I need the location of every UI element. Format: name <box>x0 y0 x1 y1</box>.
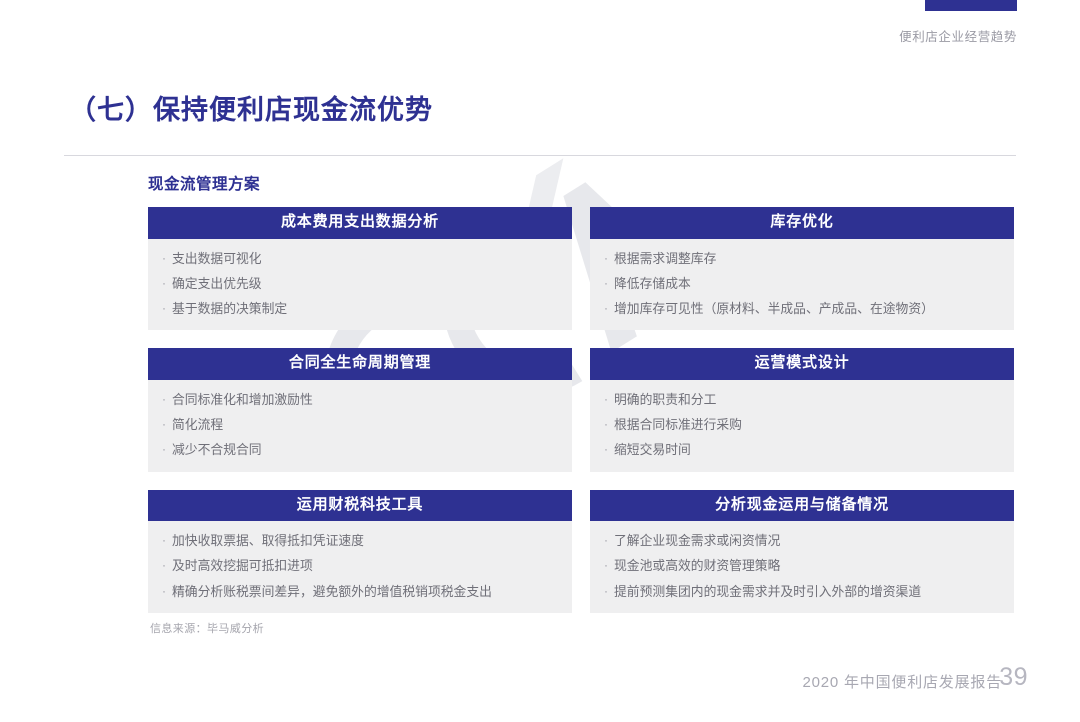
title-divider <box>64 155 1016 156</box>
footer-report-name: 2020 年中国便利店发展报告 <box>802 671 1002 692</box>
page-title: （七）保持便利店现金流优势 <box>69 88 433 127</box>
list-item: · 支出数据可视化 <box>162 250 558 267</box>
card-body: · 支出数据可视化 · 确定支出优先级 · 基于数据的决策制定 <box>148 239 572 331</box>
card-title: 运营模式设计 <box>590 348 1014 380</box>
list-item: · 合同标准化和增加激励性 <box>162 391 558 408</box>
bullet-dot-icon: · <box>162 250 172 266</box>
card-body: · 加快收取票据、取得抵扣凭证速度 · 及时高效挖掘可抵扣进项 · 精确分析账税… <box>148 521 572 613</box>
cash-flow-card-grid: 成本费用支出数据分析 · 支出数据可视化 · 确定支出优先级 · 基于数据的决策… <box>148 207 1014 613</box>
list-item-label: 简化流程 <box>172 416 558 433</box>
card-title: 分析现金运用与储备情况 <box>590 490 1014 522</box>
bullet-dot-icon: · <box>162 275 172 291</box>
bullet-dot-icon: · <box>162 441 172 457</box>
card-body: · 明确的职责和分工 · 根据合同标准进行采购 · 缩短交易时间 <box>590 380 1014 472</box>
card-title: 成本费用支出数据分析 <box>148 207 572 239</box>
list-item-label: 加快收取票据、取得抵扣凭证速度 <box>172 532 558 549</box>
list-item: · 简化流程 <box>162 416 558 433</box>
bullet-dot-icon: · <box>162 416 172 432</box>
list-item: · 根据需求调整库存 <box>604 250 1000 267</box>
card-title: 运用财税科技工具 <box>148 490 572 522</box>
list-item: · 及时高效挖掘可抵扣进项 <box>162 557 558 574</box>
list-item: · 了解企业现金需求或闲资情况 <box>604 532 1000 549</box>
bullet-dot-icon: · <box>604 300 614 316</box>
bullet-dot-icon: · <box>162 583 172 599</box>
bullet-dot-icon: · <box>604 275 614 291</box>
list-item: · 缩短交易时间 <box>604 441 1000 458</box>
bullet-dot-icon: · <box>604 532 614 548</box>
bullet-dot-icon: · <box>162 391 172 407</box>
bullet-dot-icon: · <box>604 416 614 432</box>
list-item: · 减少不合规合同 <box>162 441 558 458</box>
card-body: · 合同标准化和增加激励性 · 简化流程 · 减少不合规合同 <box>148 380 572 472</box>
list-item: · 精确分析账税票间差异，避免额外的增值税销项税金支出 <box>162 583 558 600</box>
bullet-dot-icon: · <box>162 557 172 573</box>
card-cash-usage-and-reserve-analysis: 分析现金运用与储备情况 · 了解企业现金需求或闲资情况 · 现金池或高效的财资管… <box>590 490 1014 613</box>
list-item-label: 确定支出优先级 <box>172 275 558 292</box>
list-item-label: 支出数据可视化 <box>172 250 558 267</box>
card-tax-technology-tools: 运用财税科技工具 · 加快收取票据、取得抵扣凭证速度 · 及时高效挖掘可抵扣进项… <box>148 490 572 613</box>
header-accent-bar <box>925 0 1017 11</box>
list-item-label: 增加库存可见性（原材料、半成品、产成品、在途物资） <box>614 300 1000 317</box>
section-heading: 现金流管理方案 <box>148 172 260 194</box>
bullet-dot-icon: · <box>162 300 172 316</box>
bullet-dot-icon: · <box>162 532 172 548</box>
running-head: 便利店企业经营趋势 <box>899 26 1017 45</box>
list-item: · 提前预测集团内的现金需求并及时引入外部的增资渠道 <box>604 583 1000 600</box>
list-item-label: 减少不合规合同 <box>172 441 558 458</box>
card-body: · 根据需求调整库存 · 降低存储成本 · 增加库存可见性（原材料、半成品、产成… <box>590 239 1014 331</box>
list-item-label: 提前预测集团内的现金需求并及时引入外部的增资渠道 <box>614 583 1000 600</box>
list-item: · 加快收取票据、取得抵扣凭证速度 <box>162 532 558 549</box>
source-note: 信息来源：毕马威分析 <box>150 620 264 636</box>
bullet-dot-icon: · <box>604 441 614 457</box>
list-item-label: 明确的职责和分工 <box>614 391 1000 408</box>
list-item-label: 了解企业现金需求或闲资情况 <box>614 532 1000 549</box>
bullet-dot-icon: · <box>604 583 614 599</box>
list-item: · 确定支出优先级 <box>162 275 558 292</box>
list-item-label: 根据需求调整库存 <box>614 250 1000 267</box>
list-item-label: 降低存储成本 <box>614 275 1000 292</box>
list-item-label: 及时高效挖掘可抵扣进项 <box>172 557 558 574</box>
list-item-label: 基于数据的决策制定 <box>172 300 558 317</box>
bullet-dot-icon: · <box>604 250 614 266</box>
card-contract-lifecycle-management: 合同全生命周期管理 · 合同标准化和增加激励性 · 简化流程 · 减少不合规合同 <box>148 348 572 471</box>
footer-page-number: 39 <box>999 663 1028 692</box>
card-title: 库存优化 <box>590 207 1014 239</box>
list-item: · 降低存储成本 <box>604 275 1000 292</box>
list-item: · 明确的职责和分工 <box>604 391 1000 408</box>
list-item: · 增加库存可见性（原材料、半成品、产成品、在途物资） <box>604 300 1000 317</box>
card-title: 合同全生命周期管理 <box>148 348 572 380</box>
list-item-label: 缩短交易时间 <box>614 441 1000 458</box>
card-inventory-optimization: 库存优化 · 根据需求调整库存 · 降低存储成本 · 增加库存可见性（原材料、半… <box>590 207 1014 330</box>
list-item: · 现金池或高效的财资管理策略 <box>604 557 1000 574</box>
card-operating-model-design: 运营模式设计 · 明确的职责和分工 · 根据合同标准进行采购 · 缩短交易时间 <box>590 348 1014 471</box>
list-item-label: 根据合同标准进行采购 <box>614 416 1000 433</box>
list-item: · 根据合同标准进行采购 <box>604 416 1000 433</box>
list-item-label: 精确分析账税票间差异，避免额外的增值税销项税金支出 <box>172 583 558 600</box>
card-cost-expense-analysis: 成本费用支出数据分析 · 支出数据可视化 · 确定支出优先级 · 基于数据的决策… <box>148 207 572 330</box>
list-item-label: 合同标准化和增加激励性 <box>172 391 558 408</box>
report-page: 便利店企业经营趋势 （七）保持便利店现金流优势 现金流管理方案 成本费用支出数据… <box>0 0 1080 722</box>
bullet-dot-icon: · <box>604 557 614 573</box>
bullet-dot-icon: · <box>604 391 614 407</box>
card-body: · 了解企业现金需求或闲资情况 · 现金池或高效的财资管理策略 · 提前预测集团… <box>590 521 1014 613</box>
list-item: · 基于数据的决策制定 <box>162 300 558 317</box>
list-item-label: 现金池或高效的财资管理策略 <box>614 557 1000 574</box>
